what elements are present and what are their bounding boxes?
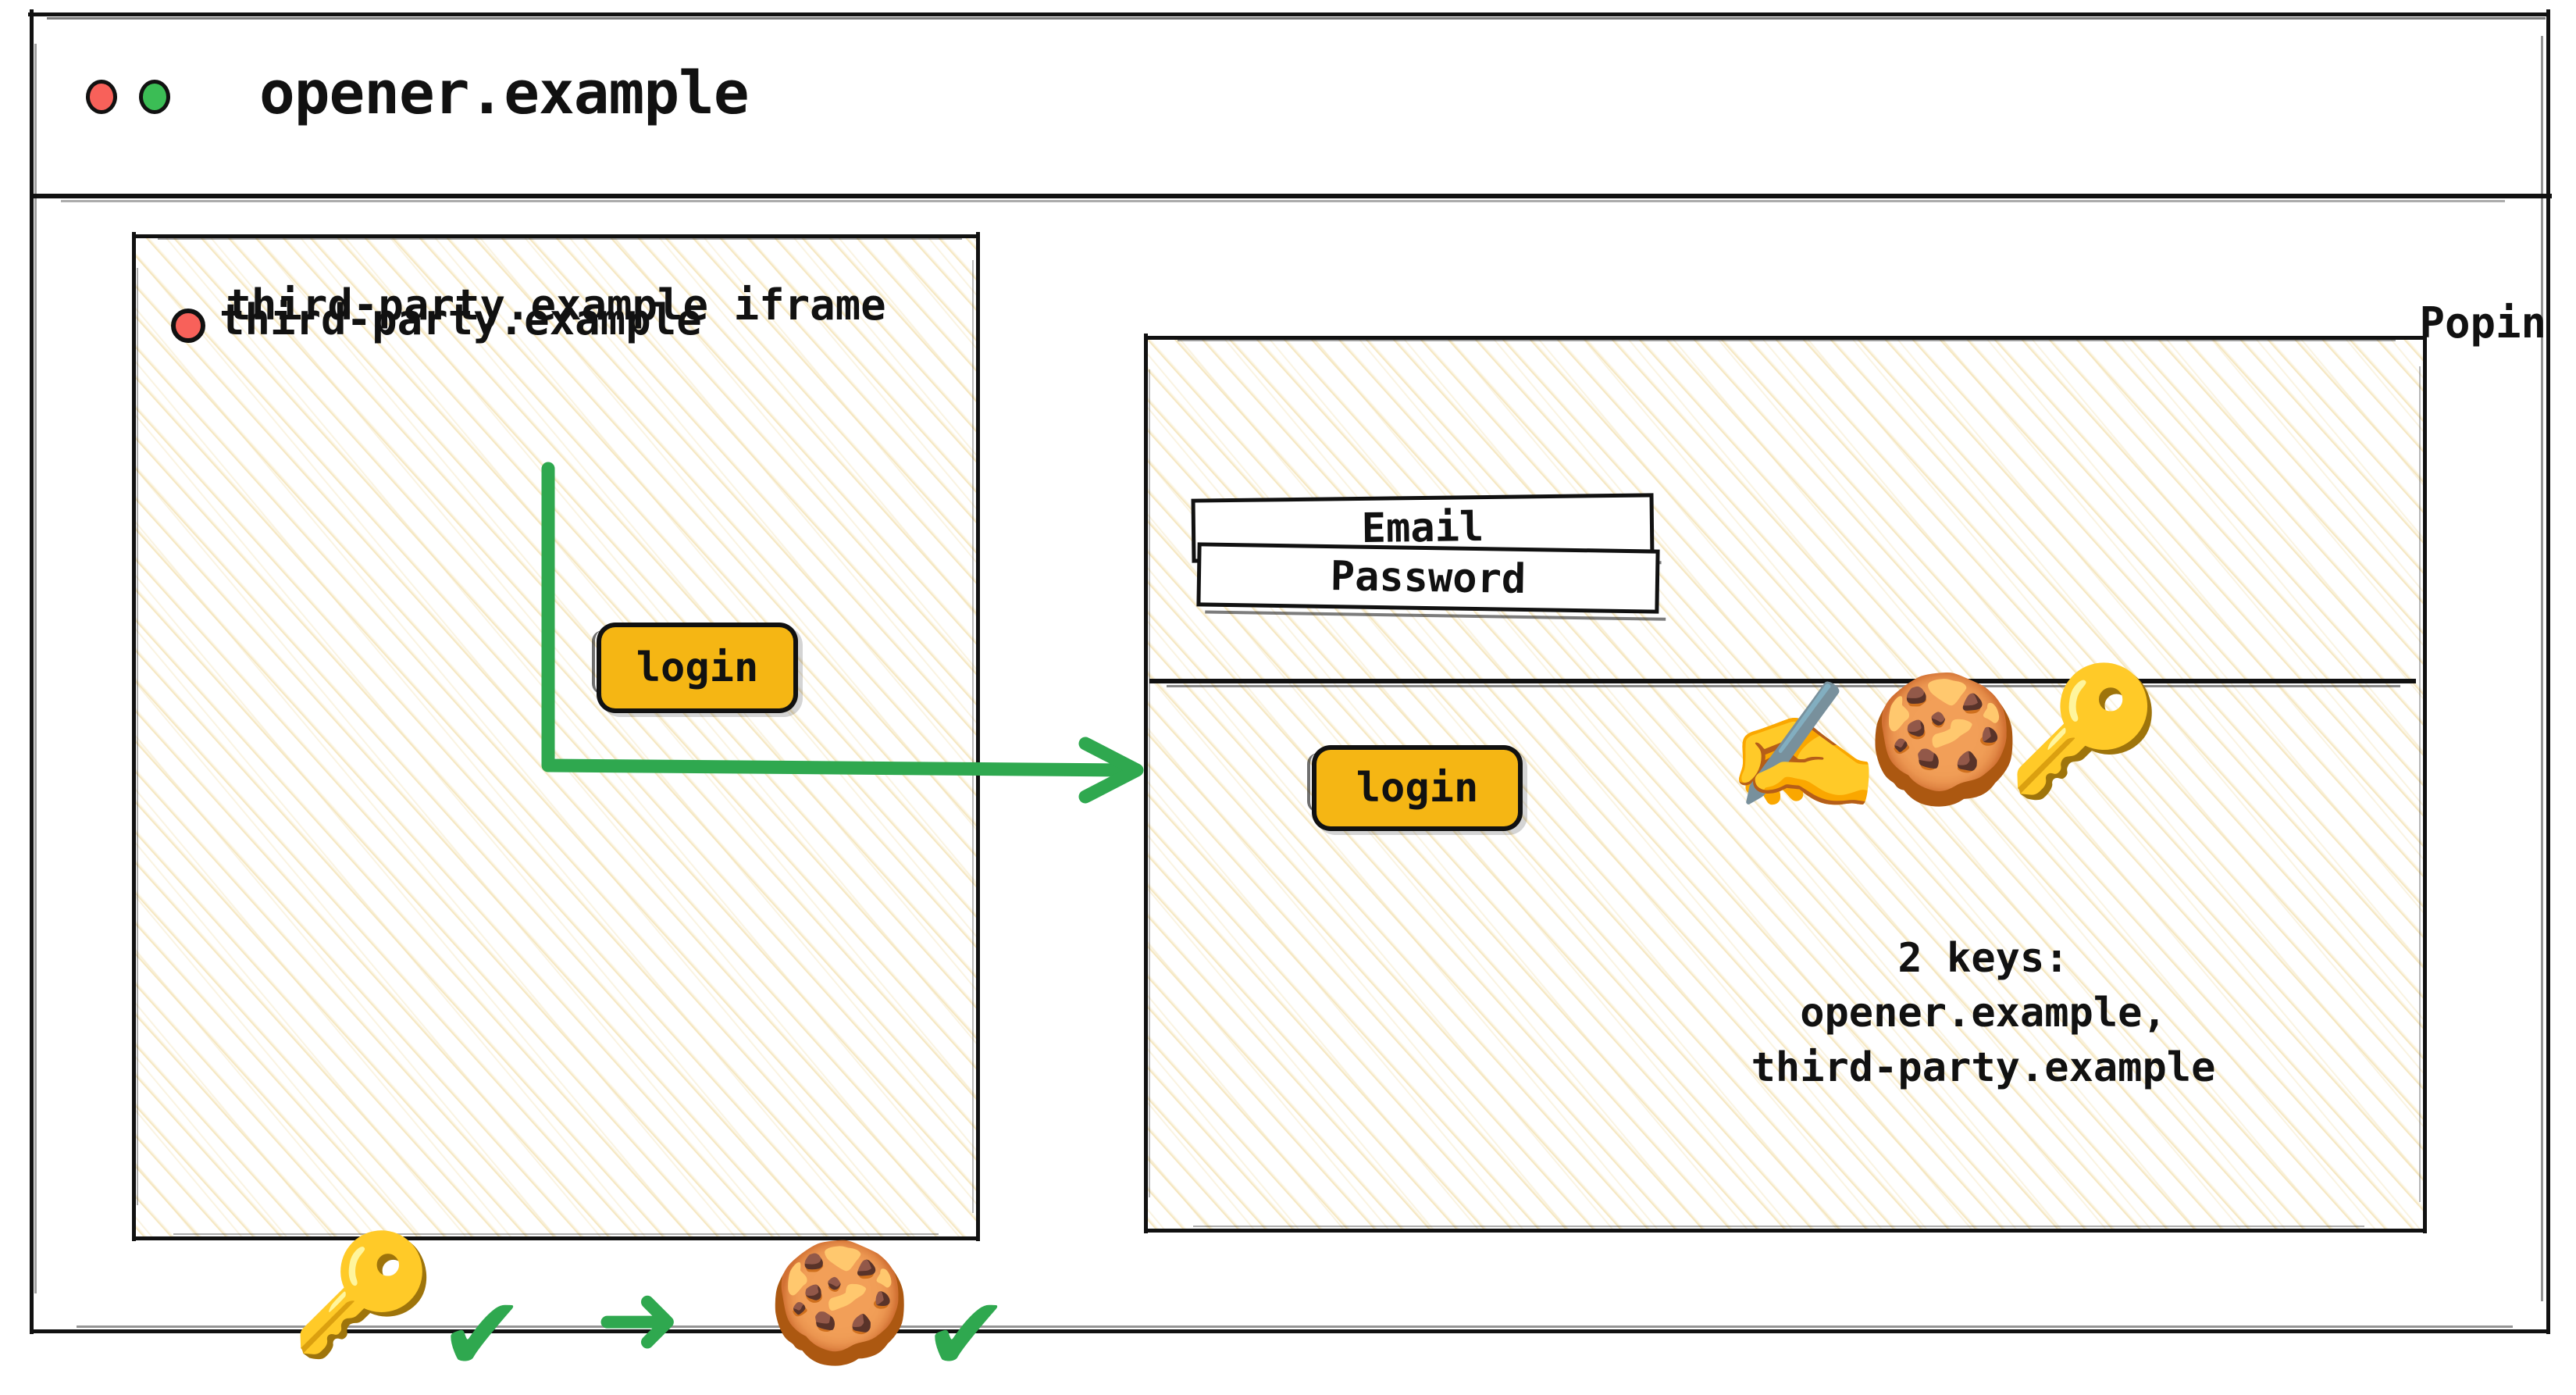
window-border-left-sketch	[34, 44, 37, 1293]
iframe-border-left-sketch	[137, 268, 138, 1205]
keys-note-heading: 2 keys:	[1702, 931, 2264, 986]
diagram-canvas: opener.example third-party.example ifram…	[0, 0, 2576, 1356]
storage-arrow-icon: ➜	[595, 1268, 682, 1371]
writing-hand-icon: ✍️	[1726, 684, 1881, 809]
popin-login-button[interactable]: login	[1317, 750, 1518, 826]
iframe-border-top-sketch	[158, 238, 962, 240]
password-field[interactable]: Password	[1200, 546, 1655, 609]
keys-note-line-2: third-party.example	[1702, 1040, 2264, 1095]
window-border-right-sketch	[2541, 36, 2543, 1301]
popin-origin-label: third-party.example	[219, 295, 702, 344]
keys-note: 2 keys: opener.example, third-party.exam…	[1702, 931, 2264, 1096]
cookie-icon: 🍪	[767, 1244, 913, 1361]
window-border-left	[30, 9, 34, 1334]
popin-border-top-sketch	[1178, 340, 2396, 341]
title-bar-separator-sketch	[61, 200, 2505, 202]
key-icon: 🔑	[290, 1236, 436, 1354]
popin-key-icon: 🔑	[2007, 669, 2162, 794]
popin-kind-label: Popin	[2419, 298, 2546, 348]
window-title-bar: opener.example	[30, 12, 2550, 195]
window-minimize-dot[interactable]	[139, 80, 170, 114]
keys-note-line-1: opener.example,	[1702, 986, 2264, 1040]
window-title-label: opener.example	[259, 58, 749, 127]
popin-close-dot[interactable]	[171, 309, 205, 343]
popin-border-right-sketch	[2419, 366, 2421, 1202]
key-check-icon: ✔	[439, 1283, 526, 1386]
window-close-dot[interactable]	[86, 80, 117, 114]
popin-cookie-icon: 🍪	[1866, 676, 2022, 801]
window-border-right	[2546, 9, 2550, 1334]
title-bar-separator	[31, 194, 2552, 198]
login-to-popin-connector-arrow	[547, 466, 1171, 825]
cookie-check-icon: ✔	[923, 1283, 1010, 1386]
popin-border-left-sketch	[1149, 369, 1150, 1197]
popin-border-bottom-sketch	[1193, 1226, 2364, 1227]
